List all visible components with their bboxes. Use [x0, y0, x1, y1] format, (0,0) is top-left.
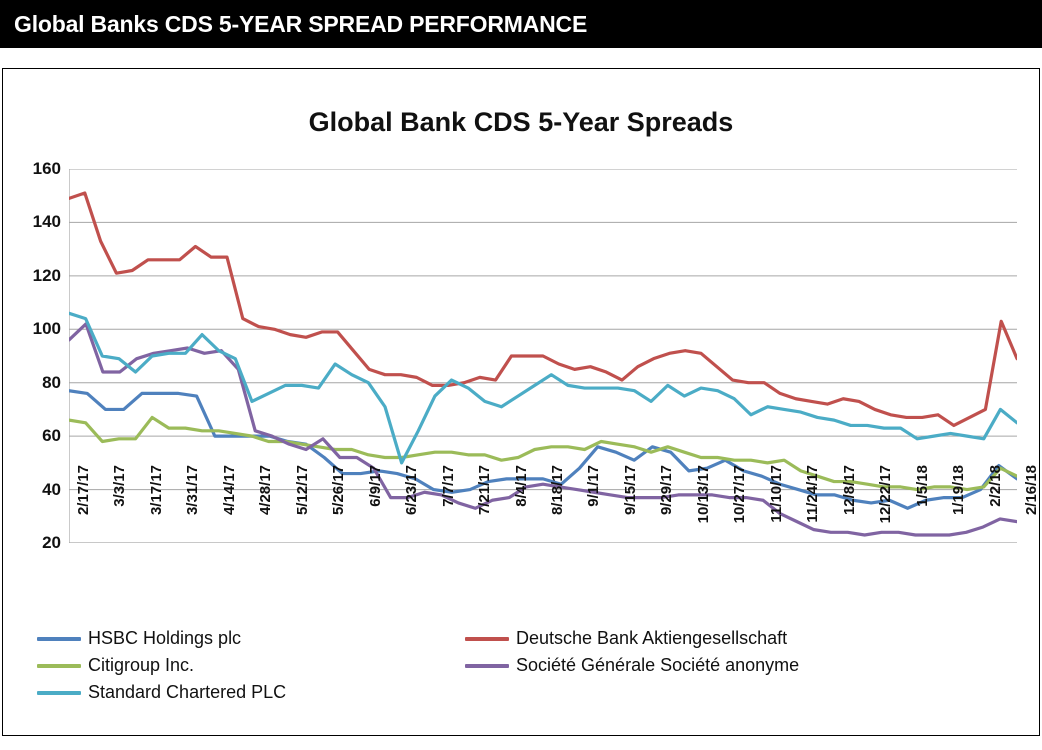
- y-axis-tick-label: 20: [42, 533, 61, 553]
- y-axis-labels: 20406080100120140160: [3, 169, 61, 543]
- x-axis-tick-label: 11/24/17: [804, 465, 821, 551]
- legend-item[interactable]: Deutsche Bank Aktiengesellschaft: [465, 625, 985, 652]
- x-axis-tick-label: 6/9/17: [367, 465, 384, 551]
- x-axis-tick-label: 3/3/17: [111, 465, 128, 551]
- chart-title: Global Bank CDS 5-Year Spreads: [3, 107, 1039, 138]
- x-axis-tick-label: 11/10/17: [768, 465, 785, 551]
- x-axis-tick-label: 1/19/18: [950, 465, 967, 551]
- x-axis-tick-label: 10/13/17: [695, 465, 712, 551]
- legend-column-left: HSBC Holdings plcCitigroup Inc.Standard …: [37, 625, 467, 706]
- x-axis-tick-label: 7/21/17: [476, 465, 493, 551]
- legend-item-label: Standard Chartered PLC: [88, 682, 286, 703]
- y-axis-tick-label: 40: [42, 480, 61, 500]
- y-axis-tick-label: 120: [33, 266, 61, 286]
- x-axis-tick-label: 8/4/17: [513, 465, 530, 551]
- x-axis-tick-label: 9/15/17: [622, 465, 639, 551]
- legend-item-label: HSBC Holdings plc: [88, 628, 241, 649]
- x-axis-tick-label: 1/5/18: [914, 465, 931, 551]
- page-title: Global Banks CDS 5-YEAR SPREAD PERFORMAN…: [0, 11, 587, 38]
- legend-color-swatch: [465, 664, 509, 668]
- legend-item[interactable]: Standard Chartered PLC: [37, 679, 467, 706]
- x-axis-tick-label: 5/26/17: [330, 465, 347, 551]
- x-axis-tick-label: 2/17/17: [75, 465, 92, 551]
- legend-color-swatch: [37, 691, 81, 695]
- line-chart-svg: [69, 169, 1017, 543]
- y-axis-tick-label: 60: [42, 426, 61, 446]
- legend-item[interactable]: HSBC Holdings plc: [37, 625, 467, 652]
- header-bar: Global Banks CDS 5-YEAR SPREAD PERFORMAN…: [0, 0, 1042, 48]
- y-axis-tick-label: 160: [33, 159, 61, 179]
- legend-item-label: Citigroup Inc.: [88, 655, 194, 676]
- y-axis-tick-label: 140: [33, 212, 61, 232]
- x-axis-tick-label: 4/28/17: [257, 465, 274, 551]
- x-axis-tick-label: 3/17/17: [148, 465, 165, 551]
- page-root: Global Banks CDS 5-YEAR SPREAD PERFORMAN…: [0, 0, 1042, 750]
- series-line: [69, 193, 1017, 425]
- legend-item[interactable]: Société Générale Société anonyme: [465, 652, 985, 679]
- x-axis-tick-label: 7/7/17: [440, 465, 457, 551]
- legend-item-label: Deutsche Bank Aktiengesellschaft: [516, 628, 787, 649]
- x-axis-tick-label: 12/8/17: [841, 465, 858, 551]
- x-axis-tick-label: 6/23/17: [403, 465, 420, 551]
- x-axis-tick-label: 2/16/18: [1023, 465, 1040, 551]
- legend-color-swatch: [465, 637, 509, 641]
- x-axis-labels: 2/17/173/3/173/17/173/31/174/14/174/28/1…: [69, 547, 1017, 637]
- legend-color-swatch: [37, 664, 81, 668]
- legend-item[interactable]: Citigroup Inc.: [37, 652, 467, 679]
- legend-color-swatch: [37, 637, 81, 641]
- y-axis-tick-label: 80: [42, 373, 61, 393]
- legend-column-right: Deutsche Bank AktiengesellschaftSociété …: [465, 625, 985, 679]
- series-line: [69, 313, 1017, 463]
- plot-area: [69, 169, 1017, 543]
- x-axis-tick-label: 3/31/17: [184, 465, 201, 551]
- chart-frame: Global Bank CDS 5-Year Spreads 204060801…: [2, 68, 1040, 736]
- y-axis-tick-label: 100: [33, 319, 61, 339]
- x-axis-tick-label: 5/12/17: [294, 465, 311, 551]
- x-axis-tick-label: 9/29/17: [658, 465, 675, 551]
- x-axis-tick-label: 12/22/17: [877, 465, 894, 551]
- x-axis-tick-label: 2/2/18: [987, 465, 1004, 551]
- x-axis-tick-label: 4/14/17: [221, 465, 238, 551]
- x-axis-tick-label: 10/27/17: [731, 465, 748, 551]
- x-axis-tick-label: 9/1/17: [585, 465, 602, 551]
- legend-item-label: Société Générale Société anonyme: [516, 655, 799, 676]
- x-axis-tick-label: 8/18/17: [549, 465, 566, 551]
